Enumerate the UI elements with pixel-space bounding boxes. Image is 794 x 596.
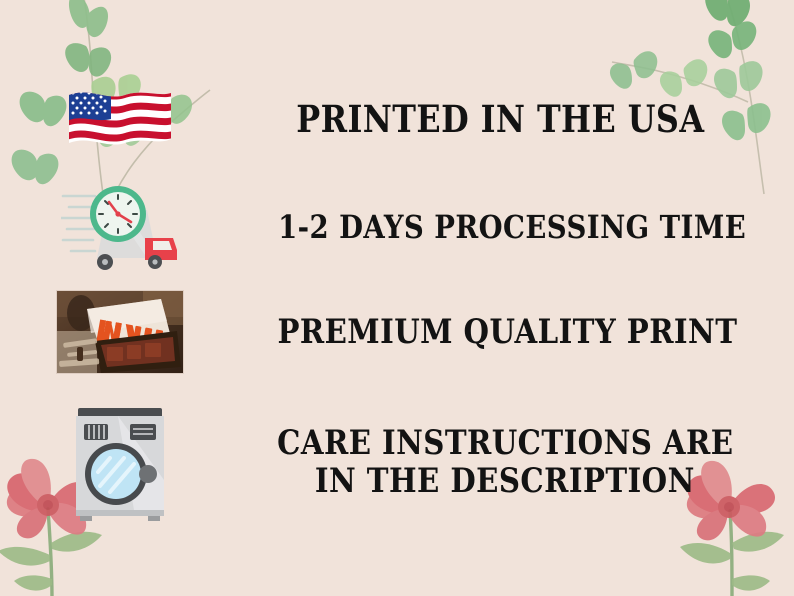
text-cell-premium-quality: PREMIUM QUALITY PRINT [240, 313, 794, 351]
headline-processing-time: 1-2 DAYS PROCESSING TIME [278, 210, 746, 246]
icon-cell-screen-printing [0, 291, 240, 373]
feature-row-processing-time: 1-2 DAYS PROCESSING TIME [0, 182, 794, 274]
text-cell-printed-in-usa: PRINTED IN THE USA [240, 99, 794, 140]
screen-printing-photo [57, 291, 183, 373]
text-cell-care-instructions: CARE INSTRUCTIONS ARE IN THE DESCRIPTION [240, 424, 794, 500]
usa-flag-icon [67, 85, 173, 155]
headline-care-line-2: IN THE DESCRIPTION [315, 462, 695, 500]
icon-cell-fast-delivery [0, 180, 240, 276]
icon-cell-usa-flag [0, 85, 240, 155]
washing-machine-icon [72, 402, 168, 522]
headline-care-line-1: CARE INSTRUCTIONS ARE [277, 424, 733, 462]
text-cell-processing-time: 1-2 DAYS PROCESSING TIME [240, 210, 794, 246]
feature-row-premium-quality: PREMIUM QUALITY PRINT [0, 286, 794, 378]
headline-printed-in-usa: PRINTED IN THE USA [296, 99, 704, 140]
feature-row-printed-in-usa: PRINTED IN THE USA [0, 74, 794, 166]
fast-delivery-clock-icon [61, 180, 179, 276]
feature-row-care-instructions: CARE INSTRUCTIONS ARE IN THE DESCRIPTION [0, 396, 794, 528]
icon-cell-washing-machine [0, 402, 240, 522]
infographic-canvas: PRINTED IN THE USA [0, 0, 794, 596]
headline-premium-quality: PREMIUM QUALITY PRINT [277, 313, 737, 351]
